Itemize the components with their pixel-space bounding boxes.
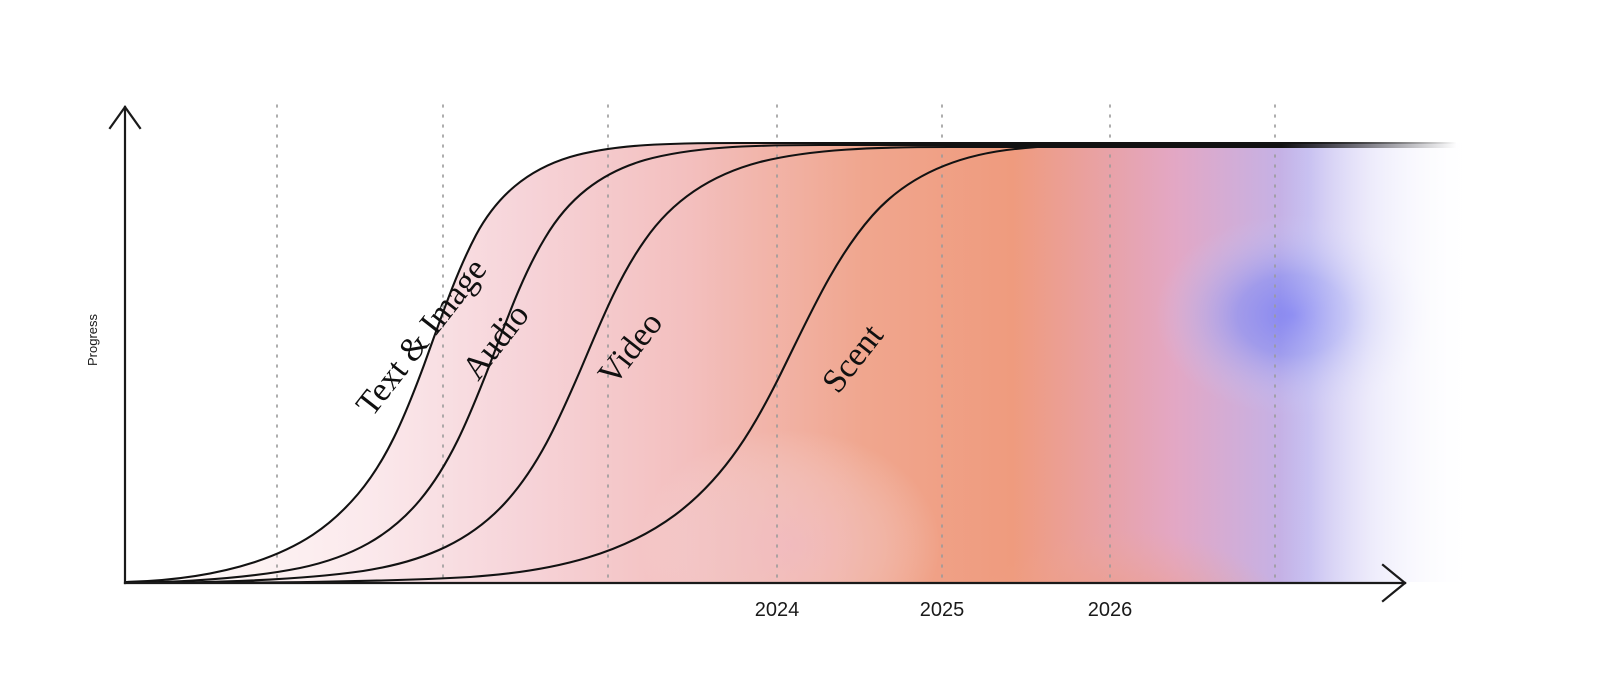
right-edge-fade	[1250, 100, 1480, 583]
s-curve-chart: Progress 2024 2025 2026 Text & Image Aud…	[0, 0, 1600, 698]
right-edge-white	[1468, 100, 1600, 583]
x-tick-label-2024: 2024	[755, 599, 800, 621]
x-tick-label-2026: 2026	[1088, 599, 1133, 621]
x-tick-label-2025: 2025	[920, 599, 965, 621]
y-axis-label: Progress	[85, 313, 100, 366]
chart-container: Progress 2024 2025 2026 Text & Image Aud…	[0, 0, 1600, 698]
